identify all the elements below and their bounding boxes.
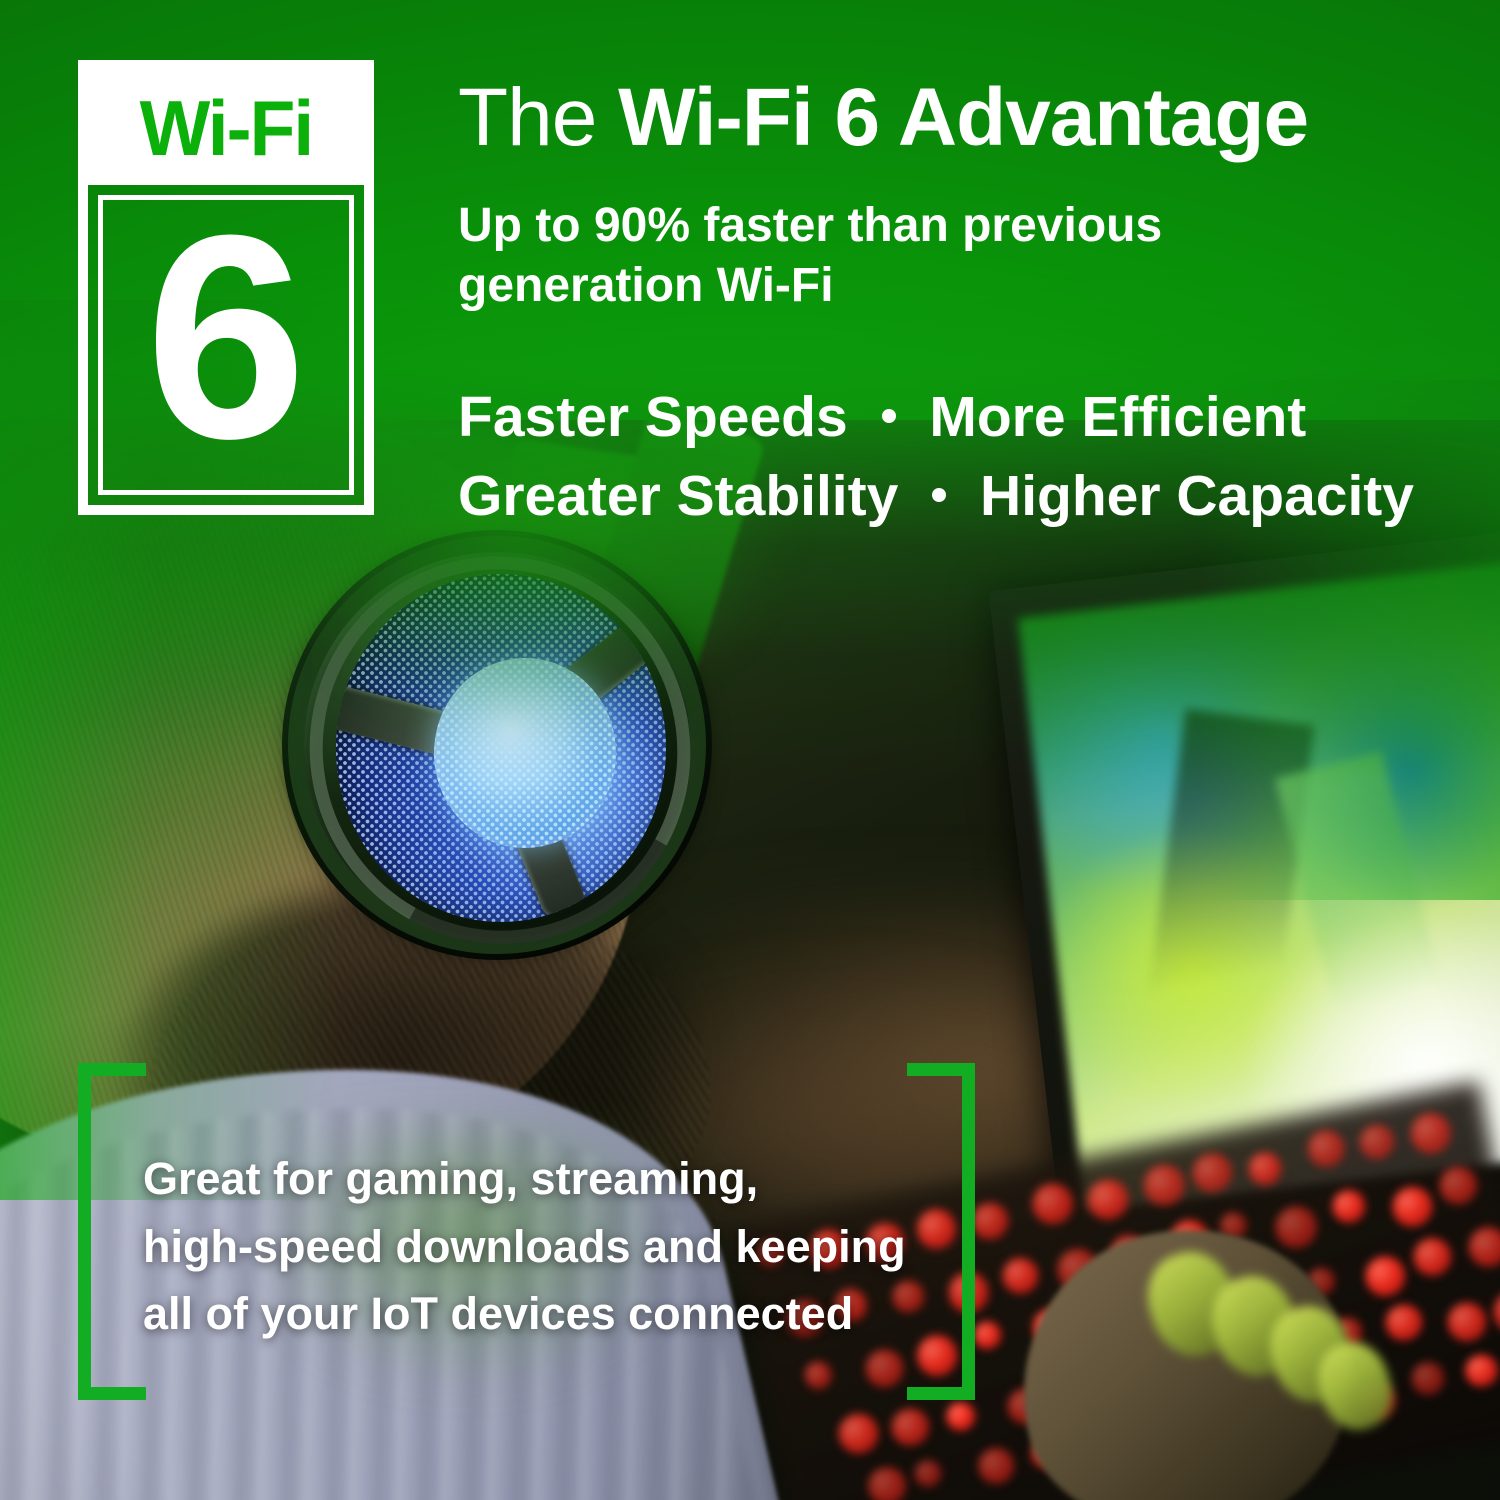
badge-wifi-label: Wi-Fi <box>140 89 313 167</box>
wifi6-badge: Wi-Fi 6 <box>78 60 374 515</box>
right-bracket-top-arm <box>907 1063 975 1076</box>
bullet-dot-icon <box>882 409 896 423</box>
badge-wifi-band: Wi-Fi <box>88 70 364 185</box>
subheadline: Up to 90% faster than previous generatio… <box>458 196 1258 315</box>
feature-more-efficient: More Efficient <box>929 385 1306 449</box>
feature-row-1: Faster Speeds More Efficient <box>458 378 1468 457</box>
left-bracket-top-arm <box>78 1063 146 1076</box>
subheadline-line-2: generation Wi-Fi <box>458 256 1258 316</box>
caption-line-3: all of your IoT devices connected <box>143 1280 963 1348</box>
wifi6-advantage-banner: Wi-Fi 6 The Wi-Fi 6 Advantage Up to 90% … <box>0 0 1500 1500</box>
feature-higher-capacity: Higher Capacity <box>980 464 1414 528</box>
page-title: The Wi-Fi 6 Advantage <box>458 76 1468 160</box>
badge-generation-panel: 6 <box>98 195 354 495</box>
use-case-caption: Great for gaming, streaming, high-speed … <box>143 1145 963 1348</box>
feature-list: Faster Speeds More Efficient Greater Sta… <box>458 378 1468 535</box>
badge-generation-number: 6 <box>145 219 306 457</box>
right-bracket-bottom-arm <box>907 1387 975 1400</box>
subheadline-line-1: Up to 90% faster than previous <box>458 196 1258 256</box>
bullet-dot-icon <box>932 488 946 502</box>
left-bracket-bottom-arm <box>78 1387 146 1400</box>
feature-row-2: Greater Stability Higher Capacity <box>458 457 1468 536</box>
left-bracket-stem <box>78 1063 91 1400</box>
feature-greater-stability: Greater Stability <box>458 464 898 528</box>
headline-bold-part: Wi-Fi 6 Advantage <box>618 72 1308 163</box>
right-bracket-stem <box>962 1063 975 1400</box>
caption-line-1: Great for gaming, streaming, <box>143 1145 963 1213</box>
headline-light-part: The <box>458 72 618 163</box>
caption-line-2: high-speed downloads and keeping <box>143 1213 963 1281</box>
feature-faster-speeds: Faster Speeds <box>458 385 848 449</box>
